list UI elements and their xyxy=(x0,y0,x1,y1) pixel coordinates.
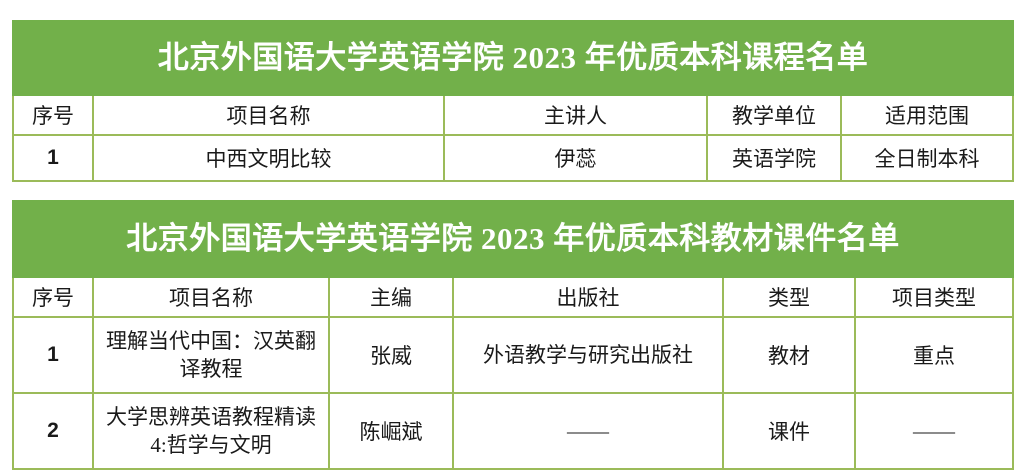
table2-row2-type: 课件 xyxy=(723,393,855,469)
table2-row1-type: 教材 xyxy=(723,317,855,393)
document-body: 北京外国语大学英语学院 2023 年优质本科课程名单 序号 项目名称 主讲人 教… xyxy=(12,20,1012,470)
table1-header-row: 序号 项目名称 主讲人 教学单位 适用范围 xyxy=(13,95,1013,135)
table2-header-editor: 主编 xyxy=(329,277,453,317)
table2-row2-name-text: 大学思辨英语教程精读 4:哲学与文明 xyxy=(94,399,328,464)
table2-row2-index: 2 xyxy=(13,393,93,469)
table-row: 1 理解当代中国：汉英翻译教程 张威 外语教学与研究出版社 教材 重点 xyxy=(13,317,1013,393)
table2-title-row: 北京外国语大学英语学院 2023 年优质本科教材课件名单 xyxy=(13,201,1013,277)
table2-row1-index: 1 xyxy=(13,317,93,393)
table1-row1-lecturer: 伊蕊 xyxy=(444,135,707,181)
course-list-table: 北京外国语大学英语学院 2023 年优质本科课程名单 序号 项目名称 主讲人 教… xyxy=(12,20,1014,182)
table-gap xyxy=(12,182,1012,200)
table2-row2-name: 大学思辨英语教程精读 4:哲学与文明 xyxy=(93,393,329,469)
table2-row1-publisher-text: 外语教学与研究出版社 xyxy=(454,337,722,373)
spacer-cell xyxy=(12,182,1012,200)
table1-row1-index: 1 xyxy=(13,135,93,181)
table-row: 2 大学思辨英语教程精读 4:哲学与文明 陈崛斌 —— 课件 —— xyxy=(13,393,1013,469)
table2-header-index: 序号 xyxy=(13,277,93,317)
table2-title: 北京外国语大学英语学院 2023 年优质本科教材课件名单 xyxy=(13,201,1013,277)
table1-row1-name: 中西文明比较 xyxy=(93,135,444,181)
table2-header-row: 序号 项目名称 主编 出版社 类型 项目类型 xyxy=(13,277,1013,317)
table1-header-scope: 适用范围 xyxy=(841,95,1013,135)
table2-row2-editor: 陈崛斌 xyxy=(329,393,453,469)
table2-header-type: 类型 xyxy=(723,277,855,317)
table2-row2-project-type: —— xyxy=(855,393,1013,469)
table2-row1-name-text: 理解当代中国：汉英翻译教程 xyxy=(94,323,328,388)
table2-row1-editor: 张威 xyxy=(329,317,453,393)
table1-header-lecturer: 主讲人 xyxy=(444,95,707,135)
table2-row2-publisher: —— xyxy=(453,393,723,469)
table1-header-name: 项目名称 xyxy=(93,95,444,135)
table2-header-publisher: 出版社 xyxy=(453,277,723,317)
table1-row1-scope: 全日制本科 xyxy=(841,135,1013,181)
table1-row1-unit: 英语学院 xyxy=(707,135,841,181)
spacer-row xyxy=(12,182,1012,200)
table2-header-project-type: 项目类型 xyxy=(855,277,1013,317)
table1-header-index: 序号 xyxy=(13,95,93,135)
table2-row1-name: 理解当代中国：汉英翻译教程 xyxy=(93,317,329,393)
table2-row1-publisher: 外语教学与研究出版社 xyxy=(453,317,723,393)
table1-header-unit: 教学单位 xyxy=(707,95,841,135)
table-row: 1 中西文明比较 伊蕊 英语学院 全日制本科 xyxy=(13,135,1013,181)
textbook-courseware-list-table: 北京外国语大学英语学院 2023 年优质本科教材课件名单 序号 项目名称 主编 … xyxy=(12,200,1014,470)
table1-title: 北京外国语大学英语学院 2023 年优质本科课程名单 xyxy=(13,21,1013,95)
table1-title-row: 北京外国语大学英语学院 2023 年优质本科课程名单 xyxy=(13,21,1013,95)
table2-row1-project-type: 重点 xyxy=(855,317,1013,393)
document-page: 北京外国语大学英语学院 2023 年优质本科课程名单 序号 项目名称 主讲人 教… xyxy=(0,0,1024,469)
table2-header-name: 项目名称 xyxy=(93,277,329,317)
